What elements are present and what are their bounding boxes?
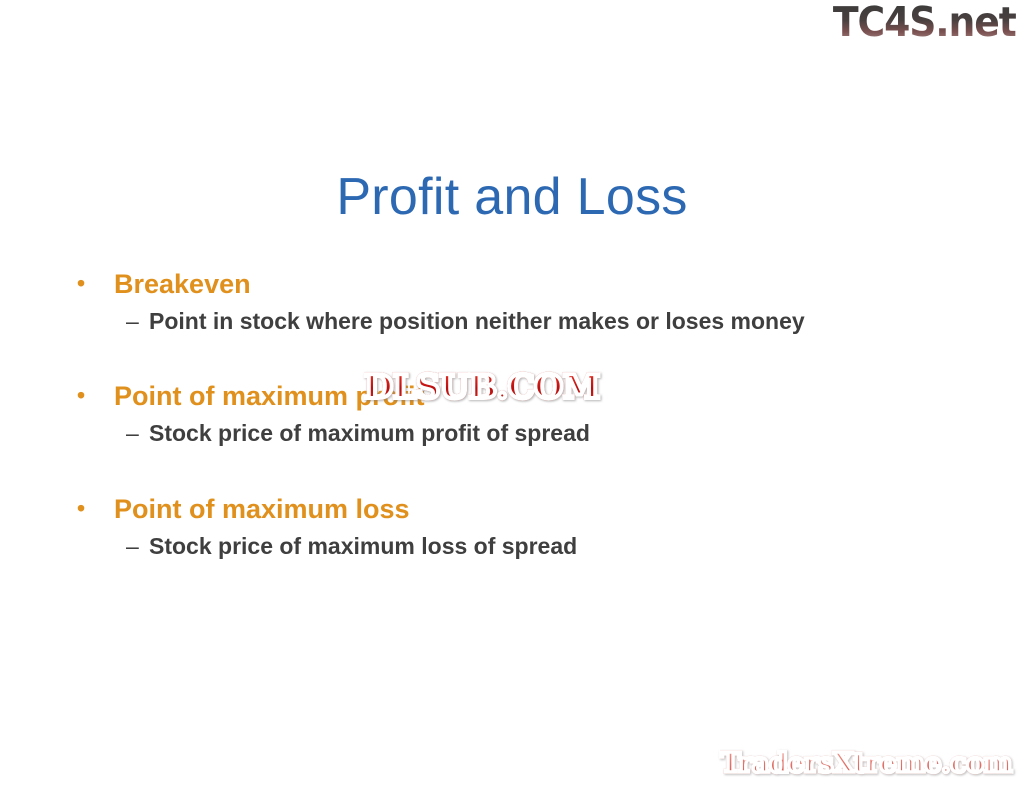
bullet-list: • Breakeven – Point in stock where posit… [74, 268, 974, 563]
bullet-group-breakeven: • Breakeven – Point in stock where posit… [74, 268, 974, 336]
slide-canvas: TC4S.net Profit and Loss • Breakeven – P… [0, 0, 1024, 791]
page-title: Profit and Loss [0, 168, 1024, 226]
tradersxtreme-watermark: TradersXtreme.com [720, 750, 1012, 777]
bullet-marker-icon: • [74, 380, 114, 410]
bullet-marker-icon: • [74, 268, 114, 298]
bullet-item-secondary: – Stock price of maximum profit of sprea… [126, 419, 974, 448]
dash-marker-icon: – [126, 419, 149, 448]
bullet-label: Breakeven [114, 268, 974, 301]
bullet-item-primary: • Breakeven [74, 268, 974, 301]
bullet-marker-icon: • [74, 493, 114, 523]
bullet-item-secondary: – Stock price of maximum loss of spread [126, 532, 974, 561]
bullet-label: Point of maximum loss [114, 493, 974, 526]
tc4s-logo: TC4S.net [833, 2, 1016, 43]
bullet-group-max-loss: • Point of maximum loss – Stock price of… [74, 493, 974, 561]
bullet-item-primary: • Point of maximum loss [74, 493, 974, 526]
bullet-item-secondary: – Point in stock where position neither … [126, 307, 974, 336]
subbullet-label: Stock price of maximum loss of spread [149, 532, 974, 561]
subbullet-label: Point in stock where position neither ma… [149, 307, 974, 336]
subbullet-label: Stock price of maximum profit of spread [149, 419, 974, 448]
dlsub-watermark: DLSUB.COM [364, 370, 599, 403]
dash-marker-icon: – [126, 307, 149, 336]
dash-marker-icon: – [126, 532, 149, 561]
